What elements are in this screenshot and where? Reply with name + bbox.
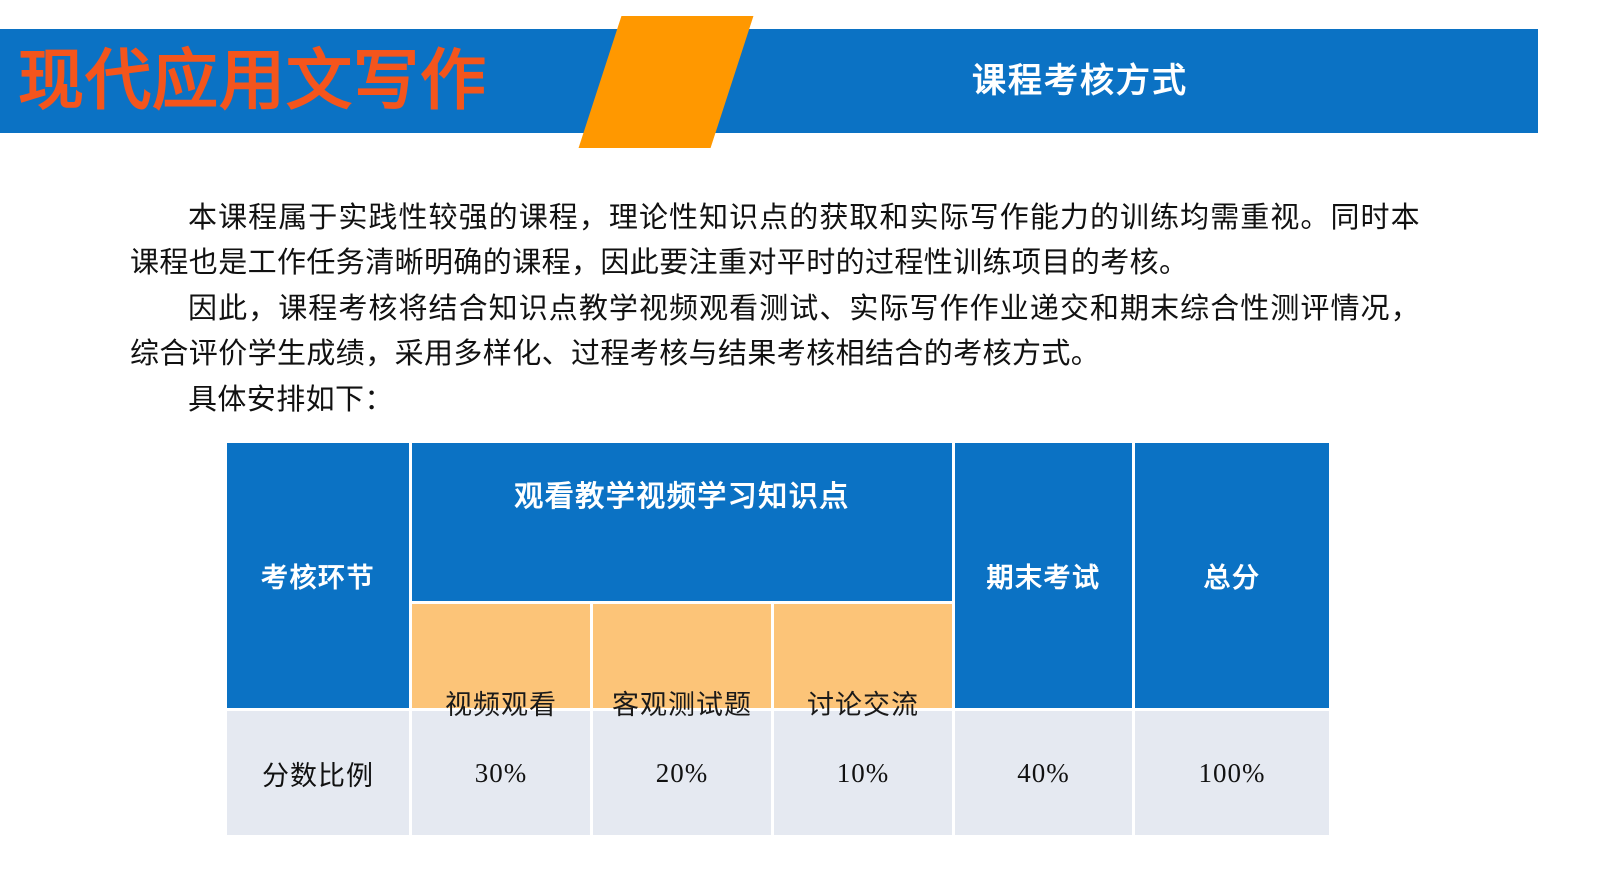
data-cell-row-label: 分数比例 xyxy=(227,711,409,835)
header-cell-video-group: 观看教学视频学习知识点 xyxy=(412,443,952,601)
paragraph-1: 本课程属于实践性较强的课程，理论性知识点的获取和实际写作能力的训练均需重视。同时… xyxy=(130,196,1420,286)
data-cell-total: 100% xyxy=(1135,711,1329,835)
header-cell-objective-test: 客观测试题 xyxy=(593,604,771,708)
header-cell-discussion: 讨论交流 xyxy=(774,604,952,708)
header-cell-video-group-label: 观看教学视频学习知识点 xyxy=(412,473,952,515)
content-body: 本课程属于实践性较强的课程，理论性知识点的获取和实际写作能力的训练均需重视。同时… xyxy=(130,196,1420,424)
table-row-group-header: 考核环节 观看教学视频学习知识点 期末考试 总分 xyxy=(227,443,1329,601)
header-cell-video-watch: 视频观看 xyxy=(412,604,590,708)
paragraph-2: 因此，课程考核将结合知识点教学视频观看测试、实际写作作业递交和期末综合性测评情况… xyxy=(130,287,1420,377)
header-cell-final-exam: 期末考试 xyxy=(955,443,1132,708)
data-cell-video-watch: 30% xyxy=(412,711,590,835)
header-cell-objective-test-label: 客观测试题 xyxy=(593,683,771,722)
section-title: 课程考核方式 xyxy=(880,34,1280,128)
header-cell-discussion-label: 讨论交流 xyxy=(774,683,952,722)
header-banner: 现代应用文写作 课程考核方式 xyxy=(0,0,1605,160)
header-cell-video-watch-label: 视频观看 xyxy=(412,683,590,722)
data-cell-final-exam: 40% xyxy=(955,711,1132,835)
course-title: 现代应用文写作 xyxy=(18,34,578,128)
table-row-score-ratio: 分数比例 30% 20% 10% 40% 100% xyxy=(227,711,1329,835)
data-cell-discussion: 10% xyxy=(774,711,952,835)
header-cell-assessment-stage: 考核环节 xyxy=(227,443,409,708)
assessment-table-wrapper: 考核环节 观看教学视频学习知识点 期末考试 总分 视频观看 客观测试题 讨论交流 xyxy=(224,440,1332,838)
header-cell-total: 总分 xyxy=(1135,443,1329,708)
data-cell-objective-test: 20% xyxy=(593,711,771,835)
paragraph-3: 具体安排如下： xyxy=(130,378,1420,423)
assessment-table: 考核环节 观看教学视频学习知识点 期末考试 总分 视频观看 客观测试题 讨论交流 xyxy=(224,440,1332,838)
